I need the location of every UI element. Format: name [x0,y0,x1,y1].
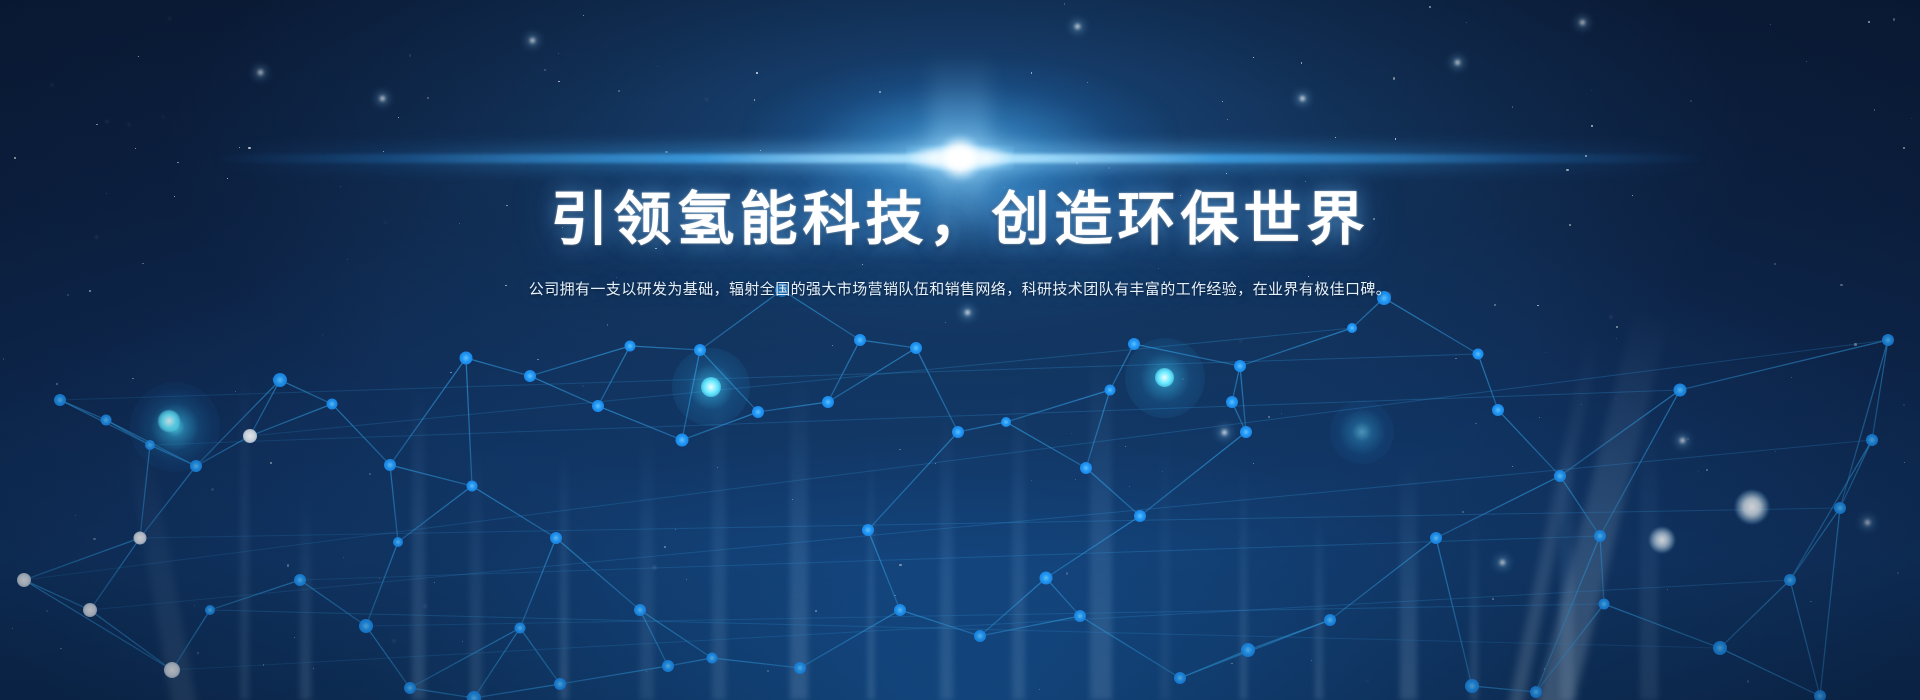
star-particle [169,18,170,19]
star-particle [96,124,98,126]
mesh-link [196,436,250,466]
mesh-link [980,578,1046,636]
hero-content: 引领氢能科技，创造环保世界 公司拥有一支以研发为基础，辐射全国的强大市场营销队伍… [0,186,1920,302]
star-particle [1064,3,1065,4]
mesh-node [1674,384,1687,397]
mesh-link [1820,508,1840,696]
mesh-node [592,400,604,412]
mesh-link [1180,620,1330,678]
mesh-link [1600,390,1680,536]
mesh-node [359,619,373,633]
mesh-node [190,460,202,472]
star-particle [383,151,384,152]
mesh-link [520,538,556,628]
star-particle [1585,155,1587,157]
star-sparkle [1300,96,1305,101]
star-particle [1087,82,1088,83]
mesh-node [1128,338,1140,350]
mesh-link [474,628,520,698]
star-particle [1566,169,1568,171]
mesh-link [1478,354,1498,410]
mesh-link [140,445,150,538]
star-sparkle [1580,20,1585,25]
star-particle [706,99,707,100]
star-particle [1429,6,1431,8]
mesh-node [854,334,866,346]
mesh-link [1006,390,1110,422]
hero-banner: 引领氢能科技，创造环保世界 公司拥有一支以研发为基础，辐射全国的强大市场营销队伍… [0,0,1920,700]
mesh-node [164,662,180,678]
star-particle [239,147,240,148]
mesh-node [1240,426,1252,438]
mesh-link [1536,536,1600,692]
star-particle [14,157,16,159]
star-particle [1076,162,1078,164]
mesh-link [1720,648,1820,696]
mesh-link [668,658,712,666]
mesh-link [366,604,1604,626]
mesh-link [530,346,630,376]
star-particle [558,53,559,54]
star-sparkle [1455,60,1460,65]
flare-wide-streak [210,145,1710,171]
mesh-link [1840,340,1888,508]
mesh-link [390,465,472,486]
mesh-node [1530,686,1542,698]
mesh-link [630,346,700,350]
mesh-node [1105,385,1116,396]
star-particle [1911,118,1912,119]
mesh-node [894,604,906,616]
mesh-link [1604,604,1720,648]
mesh-node [1834,502,1846,514]
star-particle [665,151,667,153]
star-particle [1903,147,1905,149]
mesh-link [640,610,668,666]
mesh-node [205,605,215,615]
mesh-node [1234,360,1246,372]
mesh-node [910,342,922,354]
mesh-link [250,380,280,436]
star-particle [657,66,658,67]
mesh-node [1784,574,1796,586]
mesh-link [1720,580,1790,648]
star-sparkle [258,70,263,75]
star-particle [1512,106,1514,108]
mesh-node [134,532,147,545]
mesh-node [676,434,689,447]
mesh-link [800,610,900,668]
mesh-link [682,350,700,440]
mesh-link [1472,686,1536,692]
star-particle [558,81,560,83]
star-particle [756,72,758,74]
mesh-link [1046,516,1140,578]
mesh-link [1140,432,1246,516]
star-particle [1395,138,1397,140]
mesh-node [1599,599,1610,610]
star-particle [1690,100,1692,102]
star-sparkle [1075,24,1080,29]
mesh-node [1134,510,1146,522]
mesh-node [1430,532,1442,544]
mesh-link [758,402,828,412]
mesh-link [640,610,712,658]
star-particle [177,162,179,164]
mesh-link [1086,468,1140,516]
flare-streak [210,154,1710,163]
star-sparkle [380,96,385,101]
mesh-node [1594,530,1606,542]
star-particle [1806,61,1807,62]
flare-core [906,145,1014,171]
mesh-link [474,684,560,698]
mesh-node [294,574,306,586]
mesh-node [384,459,396,471]
mesh-link [980,616,1080,636]
mesh-node [1347,323,1357,333]
mesh-link [682,412,758,440]
mesh-link [24,580,90,610]
mesh-node [707,653,718,664]
mesh-node [1040,572,1053,585]
star-particle [106,121,107,122]
mesh-link [868,432,958,530]
mesh-node [243,429,257,443]
mesh-link [90,610,172,670]
star-particle [618,90,620,92]
network-mesh [0,280,1920,700]
mesh-node [524,370,536,382]
mesh-link [598,346,630,406]
star-particle [1227,119,1228,120]
star-particle [248,147,250,149]
star-particle [409,54,411,56]
mesh-link [700,350,758,412]
star-particle [959,155,960,156]
mesh-link [150,390,1680,445]
mesh-node [17,573,31,587]
mesh-node [1324,614,1336,626]
mesh-link [1560,390,1680,476]
mesh-link [1790,580,1820,696]
mesh-link [598,406,682,440]
mesh-link [366,542,398,626]
mesh-link [900,610,980,636]
mesh-node [1465,679,1479,693]
mesh-node [1713,641,1727,655]
mesh-node [752,406,764,418]
mesh-node [460,352,473,365]
mesh-node [404,682,416,694]
star-particle [1874,109,1876,111]
mesh-link [90,440,1872,610]
mesh-link [1600,536,1604,604]
mesh-link [1790,508,1840,580]
page-title: 引领氢能科技，创造环保世界 [0,186,1920,254]
mesh-link [172,610,210,670]
mesh-node [101,415,112,426]
mesh-link [1436,538,1472,686]
mesh-node [1866,434,1878,446]
mesh-link [860,340,916,348]
mesh-link [140,466,196,538]
mesh-link [1384,298,1478,354]
star-particle [1335,137,1336,138]
star-particle [583,15,584,16]
mesh-node [1074,610,1086,622]
star-particle [138,56,139,57]
mesh-node [662,660,674,672]
star-particle [1393,77,1395,79]
mesh-link [1680,340,1888,390]
mesh-link [410,688,474,698]
star-particle [227,178,228,179]
mesh-node [862,524,874,536]
mesh-link [300,536,1600,580]
star-particle [51,84,53,86]
mesh-link [520,628,560,684]
mesh-node [952,426,964,438]
mesh-link [390,465,398,542]
mesh-link [24,340,1888,580]
mesh-node [1174,672,1186,684]
mesh-link [1536,604,1604,692]
star-particle [1222,101,1223,102]
mesh-link [472,486,556,538]
mesh-link [250,404,332,436]
mesh-node [83,603,97,617]
star-particle [760,150,761,151]
star-particle [1301,62,1303,64]
mesh-node [1080,462,1092,474]
mesh-node [1882,334,1894,346]
star-particle [1466,22,1467,23]
mesh-link [150,445,196,466]
star-particle [544,69,546,71]
mesh-node [273,373,287,387]
mesh-node [1554,470,1566,482]
star-particle [135,148,136,149]
mesh-node [554,678,566,690]
mesh-node [1473,349,1484,360]
star-particle [1108,167,1110,169]
mesh-link [24,580,172,670]
star-particle [940,170,941,171]
mesh-node [327,399,338,410]
mesh-link [90,538,140,610]
mesh-link [916,348,958,432]
mesh-link [466,358,472,486]
mesh-node [822,396,834,408]
mesh-link [958,422,1006,432]
mesh-link [390,358,466,465]
mesh-link [1872,340,1888,440]
mesh-link [466,358,530,376]
mesh-node [550,532,562,544]
mesh-node [515,623,526,634]
mesh-link [556,538,640,610]
mesh-link [868,530,900,610]
mesh-link [60,354,1478,400]
mesh-node [393,537,403,547]
mesh-link [1560,476,1600,536]
mesh-link [1498,410,1560,476]
star-particle [1893,18,1895,20]
mesh-link [1046,578,1080,616]
mesh-node [1814,690,1826,700]
mesh-node [1492,404,1504,416]
mesh-node [634,604,646,616]
mesh-link [1086,390,1110,468]
mesh-node [54,394,66,406]
star-sparkle [530,38,535,43]
star-particle [162,116,164,118]
star-particle [1591,90,1592,91]
mesh-node [1241,643,1255,657]
star-particle [1770,24,1772,26]
mesh-link [1436,476,1560,538]
mesh-node [467,691,481,700]
star-particle [1305,181,1306,182]
page-subtitle: 公司拥有一支以研发为基础，辐射全国的强大市场营销队伍和销售网络，科研技术团队有丰… [0,278,1920,302]
mesh-link [210,580,300,610]
mesh-link [24,538,140,580]
star-particle [879,91,881,93]
mesh-link [1790,440,1872,580]
mesh-node [974,630,986,642]
mesh-link [712,658,800,668]
mesh-node [1001,417,1011,427]
star-particle [398,117,399,118]
star-particle [128,123,130,125]
mesh-node [467,481,478,492]
star-particle [1031,72,1033,74]
mesh-node [694,344,706,356]
mesh-node [1226,396,1238,408]
star-particle [427,97,429,99]
star-particle [1253,57,1254,58]
mesh-link [1080,616,1180,678]
mesh-link [560,666,668,684]
mesh-node [625,341,636,352]
mesh-link [410,628,520,688]
star-particle [1868,21,1870,23]
mesh-node [794,662,806,674]
mesh-link [530,376,598,406]
star-particle [754,99,756,101]
mesh-link [250,328,1352,436]
star-particle [1226,173,1227,174]
mesh-link [332,404,390,465]
star-particle [1591,125,1593,127]
mesh-node [145,440,155,450]
